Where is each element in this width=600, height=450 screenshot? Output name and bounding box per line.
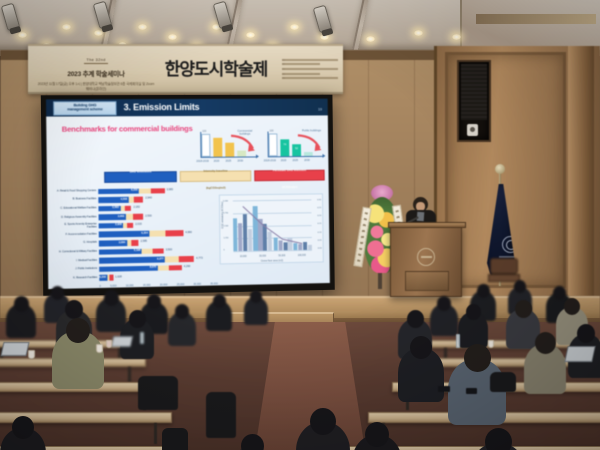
banner-subtitle: 2023 추계 학술세미나 <box>36 68 156 78</box>
audience-member-head <box>14 296 29 312</box>
bar-segment <box>133 214 143 220</box>
mini-bar-value: 74 <box>280 143 289 146</box>
downlight-icon <box>452 34 461 40</box>
lecture-hall-photo: The 32nd 2023 추계 학술세미나 2023년 11월 17일(금) … <box>0 0 600 450</box>
bar-stack: 6,3544,990 <box>99 231 184 238</box>
bar-stack: 4,5582,940 <box>98 197 143 203</box>
audience-member-head <box>577 324 595 343</box>
downlight-icon <box>138 24 147 30</box>
bar-row-label: A. Retail & Food Shopping Centers <box>55 190 98 193</box>
mini-bar <box>213 138 222 157</box>
audience-member-head <box>514 280 526 293</box>
bar-row-total: 3,983 <box>167 188 174 191</box>
slide-section-tab: Building GHG management scheme <box>53 101 116 115</box>
bar-segment: 2,928 <box>99 223 124 229</box>
combo-y2-tick: 0.30 <box>317 199 321 201</box>
flag-finial <box>495 164 505 174</box>
audience-member-head <box>515 300 532 318</box>
decline-arrow-icon <box>296 132 325 152</box>
desk-leg <box>128 367 131 382</box>
banner-program-line <box>282 59 343 61</box>
audience-member-head <box>65 300 83 319</box>
mini-bar <box>201 134 210 157</box>
bar-stack: 3,6632,530 <box>99 214 144 220</box>
bar-segment: 3,583 <box>98 206 120 212</box>
legend-item-emissions: GHG Emissions (tCO2eq/yr) <box>104 171 177 183</box>
audience-member-head <box>310 408 336 435</box>
bar-segment-value: 6,354 <box>141 232 148 235</box>
paper-cup <box>488 340 494 348</box>
bar-row-label: C. Educational Welfare Facilities <box>56 207 99 210</box>
mini-bar-top-label: 100 <box>202 130 206 133</box>
audience-member-head <box>147 294 161 309</box>
banner-left-block: The 32nd 2023 추계 학술세미나 2023년 11월 17일(금) … <box>28 48 156 91</box>
combo-y-tick: 1,250 <box>223 237 228 239</box>
bar-segment-value: 3,663 <box>118 215 125 218</box>
smartphone <box>438 386 450 392</box>
legend-label-line1: Intensity baseline <box>204 168 228 172</box>
speaker-control-knob <box>467 124 478 136</box>
combo-y-tick: 2,500 <box>223 225 228 227</box>
legend-item-intensity: Intensity baseline (kgCO2eq/m2) <box>180 170 252 182</box>
combo-y2-tick: 0.20 <box>317 215 321 217</box>
audience-member-head <box>464 344 491 372</box>
combo-y2-tick: 0.10 <box>318 231 322 233</box>
audience-member-head <box>564 298 580 315</box>
banner-program-line <box>282 73 343 75</box>
banner-program-line <box>282 63 343 65</box>
bar-segment: 6,230 <box>98 188 139 194</box>
backpack <box>162 428 188 450</box>
mini-x-tick: 2030 <box>233 159 247 162</box>
laptop <box>1 342 30 356</box>
water-bottle <box>456 334 460 348</box>
legend-label-line1: Permitted GHG emission <box>273 168 306 172</box>
bar-segment: 4,558 <box>98 197 128 203</box>
podium-top <box>388 222 466 228</box>
bar-segment <box>134 197 143 203</box>
slide-title: 3. Emission Limits <box>124 101 200 111</box>
bar-segment <box>166 231 184 237</box>
combo-y-tick: 5,000 <box>223 201 228 203</box>
audience-member-head <box>485 428 512 450</box>
paper-cup <box>28 350 35 359</box>
smartphone <box>466 388 477 394</box>
audience-member-head <box>12 416 34 439</box>
banner-title: 한양도시학술제 <box>156 61 276 78</box>
bar-segment: 3,663 <box>99 214 126 220</box>
bar-row-label: B. Business Facilities <box>55 199 98 202</box>
speaker-grill <box>461 64 487 120</box>
backpack <box>138 376 178 410</box>
audience-member-head <box>365 422 389 447</box>
audience-member-head <box>104 290 119 306</box>
downlight-icon <box>62 24 71 30</box>
laptop <box>564 346 595 362</box>
audience-member-head <box>213 294 226 308</box>
mini-chart-commercial: 100 2018-2019 2020 2025 2030 Commercial … <box>196 129 258 163</box>
audience-member-head <box>410 336 432 359</box>
legend-label-line1: GHG Emissions <box>129 169 151 173</box>
bar-segment-value: 3,583 <box>112 206 119 209</box>
bar-row-total: 2,182 <box>133 206 140 209</box>
bar-row-label: F. Accommodation Facilities <box>56 233 99 237</box>
audience-member-head <box>437 296 451 311</box>
mini-bar: 74 <box>280 139 289 156</box>
bar-segment <box>151 188 164 194</box>
bar-segment <box>127 223 133 229</box>
mini-bar <box>304 152 313 156</box>
bar-segment: 6,354 <box>99 231 150 237</box>
bar-segment <box>125 205 131 211</box>
audience-area <box>0 240 600 450</box>
bar-stack: 6,2303,983 <box>98 188 164 194</box>
bar-row-total: 2,015 <box>135 223 142 226</box>
mini-chart-public: 100 74 52 2018-2019 2020 2025 2030 Publi… <box>264 128 325 162</box>
bar-stack: 2,9282,015 <box>99 223 134 229</box>
mini-annotation: Public buildings <box>299 129 324 132</box>
combo-y2-tick: 0.25 <box>317 207 321 209</box>
audience-member-head <box>241 434 264 450</box>
downlight-icon <box>414 30 423 36</box>
chart-legend: GHG Emissions (tCO2eq/yr) Intensity base… <box>104 170 325 183</box>
bar-row-label: D. Religious Assembly Facilities <box>56 216 99 219</box>
audience-member-head <box>66 318 90 343</box>
banner-program-line <box>282 68 343 70</box>
banner-edition: The 32nd <box>84 57 107 64</box>
downlight-icon <box>246 32 255 38</box>
audience-member-head <box>477 284 490 298</box>
mini-annotation: Commercial buildings <box>232 130 258 137</box>
banner-date-line: 2023년 11월 17일(금) 오후 1시 | 한양대학교 백남학술정보관 6… <box>36 81 156 91</box>
bar-row-total: 4,990 <box>185 231 192 234</box>
combo-y-tick: 3,750 <box>223 213 228 215</box>
slide-heading: Benchmarks for commercial buildings <box>62 124 193 134</box>
audience-member-head <box>407 310 424 328</box>
bar-segment-value: 4,558 <box>120 197 127 200</box>
combo-y2-tick: 0.15 <box>317 223 321 225</box>
bar-stack: 3,5832,182 <box>98 205 131 211</box>
desk-leg <box>154 423 157 444</box>
water-bottle <box>140 332 144 344</box>
audience-member-head <box>51 286 64 300</box>
downlight-icon <box>168 34 177 40</box>
mini-bar-top-label: 100 <box>269 130 273 133</box>
audience-member-head <box>535 332 556 354</box>
bar-segment <box>149 231 165 237</box>
downlight-icon <box>366 36 375 42</box>
backpack <box>490 372 516 392</box>
bar-segment-value: 6,230 <box>131 189 138 192</box>
downlight-icon <box>290 24 299 30</box>
banner-program-block <box>276 56 343 82</box>
banner-program-line <box>282 77 343 79</box>
bar-segment <box>126 214 134 220</box>
legend-item-permitted: Permitted GHG emission (tCO2eq/yr) <box>254 170 325 182</box>
event-banner: The 32nd 2023 추계 학술세미나 2023년 11월 17일(금) … <box>28 44 343 94</box>
legend-label-line2: (tCO2eq/yr) <box>282 184 297 188</box>
bar-segment-value: 2,928 <box>115 223 122 226</box>
slide-tab-line2: management scheme <box>67 108 103 112</box>
ceiling-coffer <box>232 0 366 50</box>
audience-member-head <box>129 310 146 328</box>
bar-segment <box>139 188 151 194</box>
audience-member-head <box>466 304 481 320</box>
laptop <box>111 336 133 347</box>
backpack <box>206 392 236 438</box>
bar-row-label: E. Sports Amenity Enterprise Facilities <box>56 223 99 229</box>
bar-row-total: 2,940 <box>145 197 152 200</box>
speaker-niche <box>457 60 491 142</box>
downlight-icon <box>18 32 27 38</box>
paper-cup <box>96 344 103 353</box>
audience-member-head <box>250 290 262 303</box>
slide-page-number: 19 <box>318 108 322 112</box>
mini-bar <box>268 133 277 156</box>
audience-member-head <box>553 286 566 300</box>
audience-member-head <box>175 304 189 319</box>
paper-cup <box>106 340 112 348</box>
bar-row-total: 2,530 <box>145 214 152 217</box>
